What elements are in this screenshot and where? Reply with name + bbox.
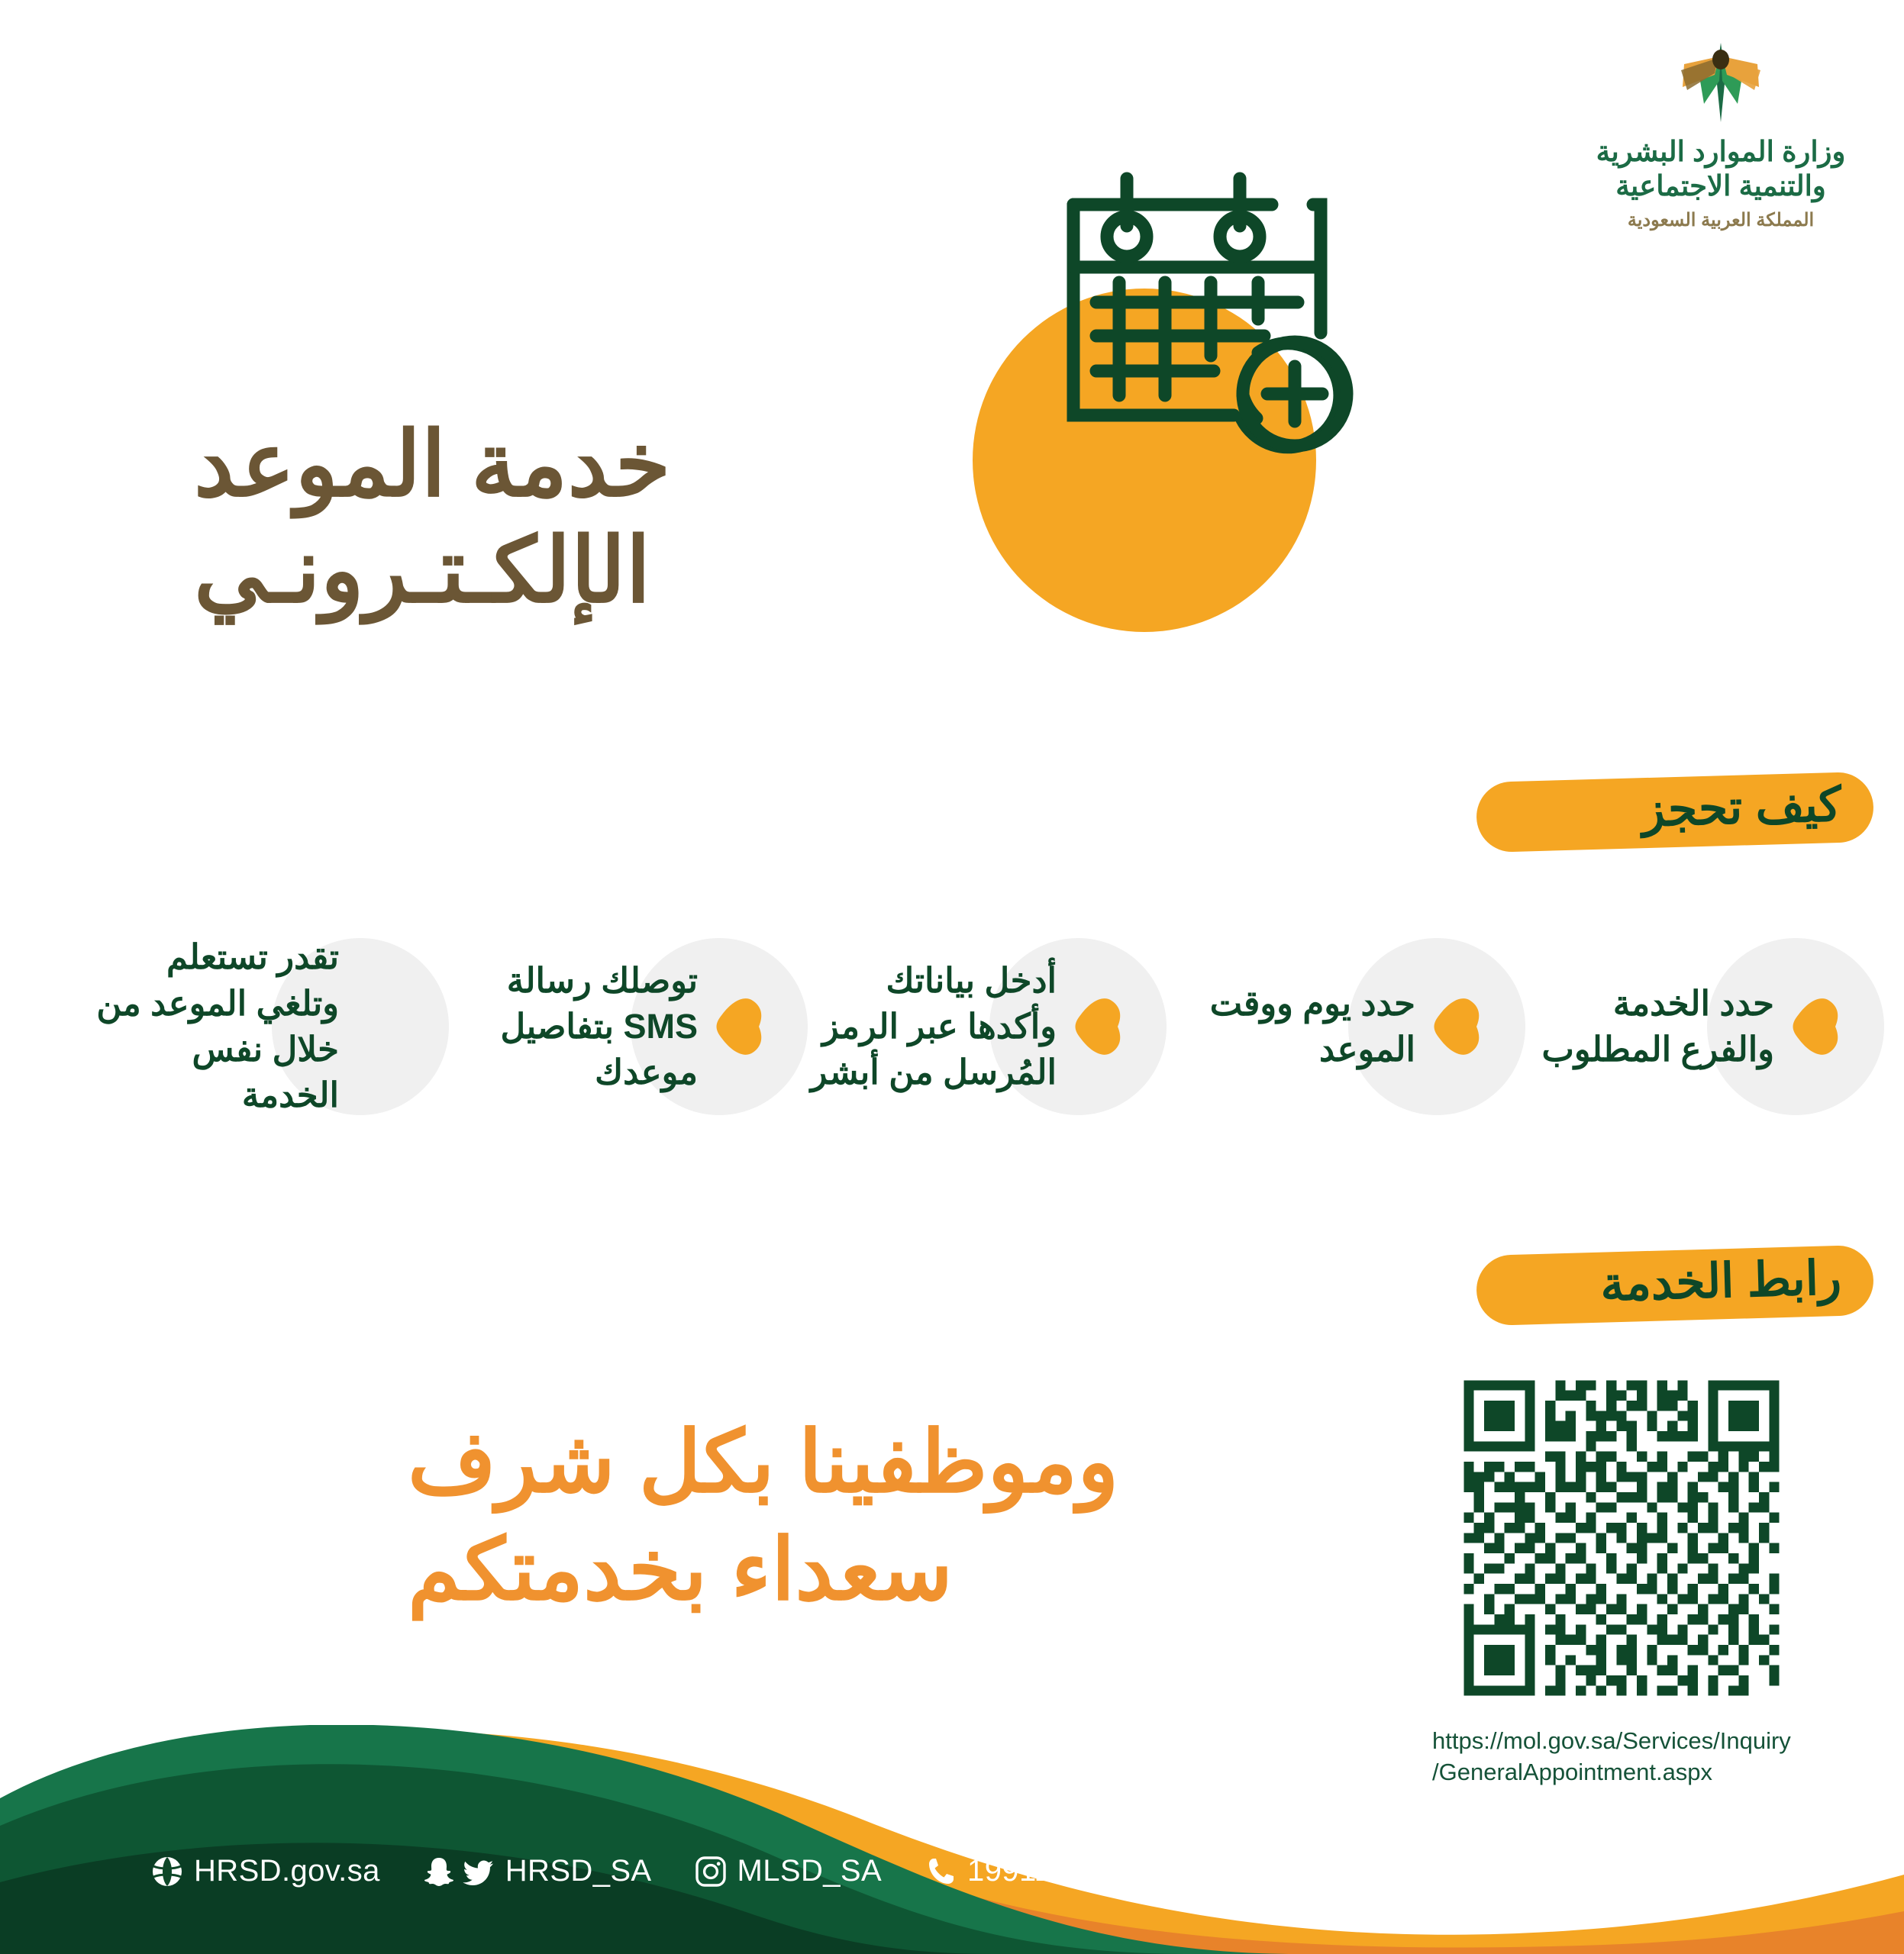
footer-social-mlsd-label[interactable]: MLSD_SA	[737, 1854, 883, 1888]
step-label: حدد يوم ووقت الموعد	[1163, 981, 1415, 1073]
chevron-left-arrow-icon	[1785, 993, 1844, 1060]
qr-code[interactable]	[1454, 1370, 1789, 1706]
tagline-line1: وموظفينا بكل شرف	[408, 1408, 1217, 1516]
footer-website-icons	[151, 1856, 183, 1888]
chevron-left-arrow-icon	[1426, 993, 1486, 1060]
step-label: حدد الخدمة والفرع المطلوب	[1522, 981, 1774, 1073]
footer-social-mlsd-icons	[695, 1856, 727, 1888]
footer-phone-icons	[925, 1856, 957, 1888]
footer-contact-bar: HRSD.gov.sa HRSD_SA MLSD_SA	[0, 1854, 1904, 1888]
page-title: خدمة الموعد الإلكـتـرونـي	[194, 412, 1018, 624]
twitter-icon	[463, 1856, 495, 1888]
page-title-line1: خدمة الموعد	[194, 412, 1018, 518]
chevron-left-arrow-icon	[1067, 993, 1127, 1060]
how-to-book-label: كيف تحجز	[1641, 782, 1842, 839]
snapchat-icon	[423, 1856, 455, 1888]
footer-phone[interactable]: 19911	[925, 1854, 1051, 1888]
how-to-book-banner: كيف تحجز	[1476, 772, 1874, 853]
steps-row: حدد الخدمة والفرع المطلوب حدد يوم ووقت ا…	[0, 904, 1904, 1149]
service-link-banner: رابط الخدمة	[1476, 1245, 1874, 1326]
step-item-1: حدد الخدمة والفرع المطلوب	[1522, 912, 1881, 1141]
chevron-left-arrow-icon	[708, 993, 768, 1060]
step-item-4: توصلك رسالة SMS بتفاصيل موعدك	[446, 912, 805, 1141]
step-label: توصلك رسالة SMS بتفاصيل موعدك	[446, 958, 698, 1096]
footer-wave-decoration	[0, 1725, 1904, 1954]
step-item-5: تقدر تستعلم وتلغي الموعد من خلال نفس الخ…	[87, 912, 446, 1141]
tagline: وموظفينا بكل شرف سعداء بخدمتكم	[408, 1408, 1217, 1623]
footer-social-hrsd[interactable]: HRSD_SA	[423, 1854, 652, 1888]
service-link-label: رابط الخدمة	[1599, 1255, 1841, 1314]
globe-icon	[151, 1856, 183, 1888]
footer-phone-label[interactable]: 19911	[967, 1854, 1051, 1888]
footer-social-hrsd-icons	[423, 1856, 495, 1888]
step-item-3: أدخل بياناتك وأكدها عبر الرمز المُرسل من…	[805, 912, 1163, 1141]
calendar-add-icon	[1029, 166, 1365, 502]
tagline-line2: سعداء بخدمتكم	[408, 1516, 1217, 1623]
instagram-icon	[695, 1856, 727, 1888]
page-title-line2: الإلكـتـرونـي	[194, 518, 1018, 624]
footer-social-mlsd[interactable]: MLSD_SA	[695, 1854, 883, 1888]
step-label: تقدر تستعلم وتلغي الموعد من خلال نفس الخ…	[87, 934, 339, 1118]
footer-website[interactable]: HRSD.gov.sa	[151, 1854, 380, 1888]
phone-icon	[925, 1856, 957, 1888]
step-item-2: حدد يوم ووقت الموعد	[1163, 912, 1522, 1141]
step-label: أدخل بياناتك وأكدها عبر الرمز المُرسل من…	[805, 958, 1057, 1096]
footer-social-hrsd-label[interactable]: HRSD_SA	[505, 1854, 652, 1888]
footer-website-label[interactable]: HRSD.gov.sa	[194, 1854, 380, 1888]
hero-section: خدمة الموعد الإلكـتـرونـي	[0, 0, 1904, 733]
footer: HRSD.gov.sa HRSD_SA MLSD_SA	[0, 1725, 1904, 1954]
